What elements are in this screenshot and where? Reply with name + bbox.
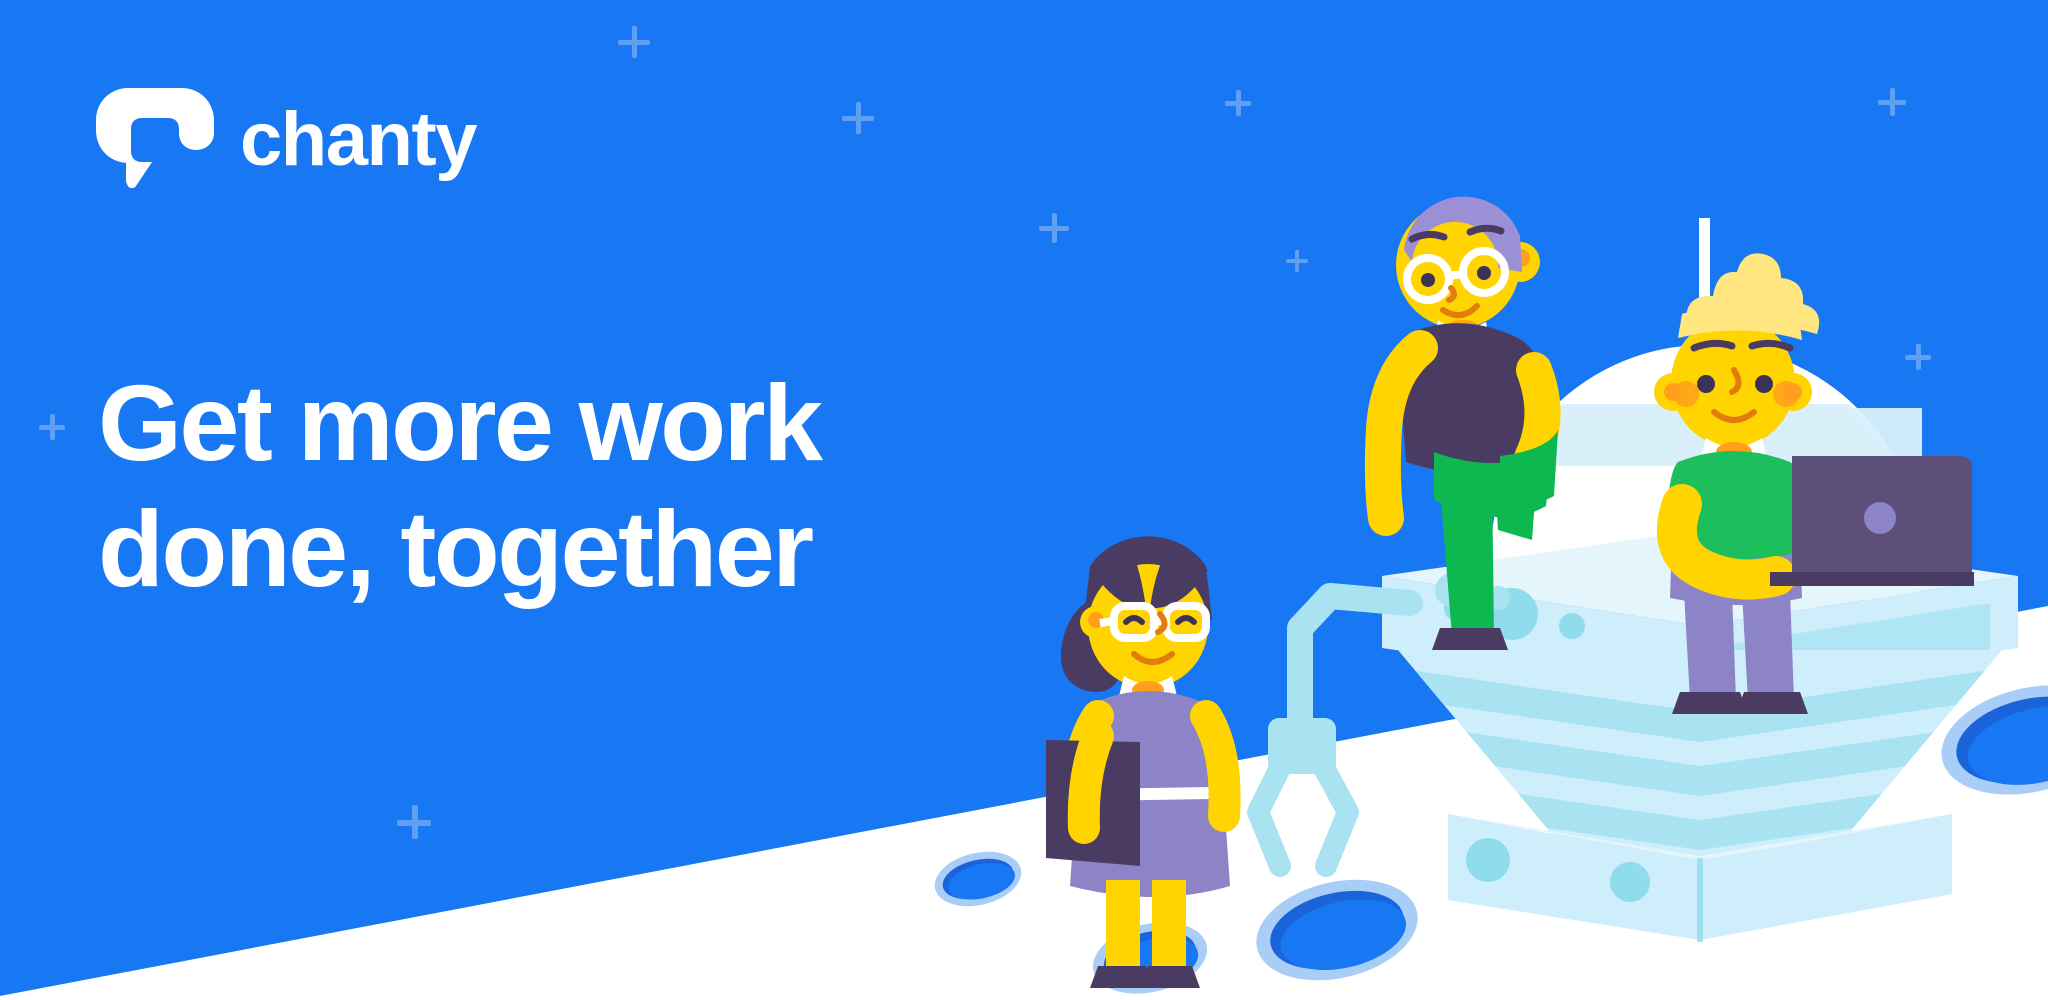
base-dot bbox=[1466, 838, 1510, 882]
headline-line-2: done, together bbox=[98, 486, 820, 611]
char3-leg-left bbox=[1106, 880, 1140, 976]
brand-lockup[interactable]: chanty bbox=[96, 88, 476, 192]
char2-shoe bbox=[1736, 692, 1808, 714]
char3-arm-right bbox=[1206, 716, 1225, 816]
char2-leg-right bbox=[1742, 592, 1794, 700]
headline-line-1: Get more work bbox=[98, 360, 820, 485]
page-title: Get more work done, together bbox=[98, 360, 820, 611]
base-dot bbox=[1610, 862, 1650, 902]
char1-pupil bbox=[1477, 266, 1491, 280]
char2-pupil bbox=[1755, 375, 1773, 393]
laptop-logo bbox=[1864, 502, 1896, 534]
char3-shoe bbox=[1140, 966, 1200, 988]
char3-hand bbox=[1084, 736, 1098, 828]
char2-leg-left bbox=[1684, 592, 1736, 700]
char2-pupil bbox=[1697, 375, 1715, 393]
platform-dot bbox=[1559, 613, 1585, 639]
char1-shoe bbox=[1432, 628, 1508, 650]
base-edge bbox=[1697, 858, 1703, 942]
laptop-base bbox=[1770, 572, 1974, 586]
char3-leg-right bbox=[1152, 880, 1186, 976]
brand-name: chanty bbox=[240, 102, 476, 178]
char2-shoe bbox=[1672, 692, 1748, 714]
char1-arm-back bbox=[1532, 370, 1543, 458]
char1-eyebrow bbox=[1470, 228, 1501, 232]
hero-banner: chanty Get more work done, together bbox=[0, 0, 2048, 1000]
char1-pupil bbox=[1421, 273, 1435, 287]
char2-cheek bbox=[1673, 381, 1699, 407]
chanty-speech-bubble-c-icon bbox=[96, 88, 214, 192]
char2-cheek bbox=[1773, 381, 1799, 407]
